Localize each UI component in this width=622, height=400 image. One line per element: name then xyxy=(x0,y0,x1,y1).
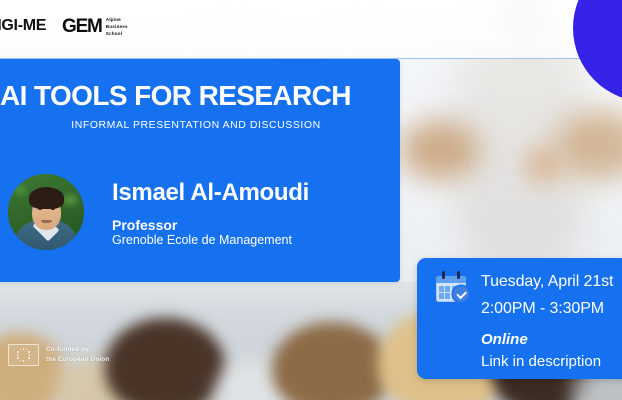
eu-star xyxy=(17,354,19,356)
eu-star xyxy=(26,349,28,351)
date-time-card: Tuesday, April 21st 2:00PM - 3:30PM Onli… xyxy=(417,258,622,379)
event-link-note: Link in description xyxy=(481,353,601,370)
eu-funding-line-2: the European Union xyxy=(46,356,109,363)
eu-star xyxy=(20,349,22,351)
speaker-organization: Grenoble Ecole de Management xyxy=(112,234,292,247)
gem-logo: GEM Alpine Business School xyxy=(62,16,128,37)
eu-star xyxy=(23,360,25,362)
eu-funding-text: Co-funded by the European Union xyxy=(46,345,109,365)
digi-me-logo: DIGI-ME xyxy=(0,17,46,35)
avatar-eye-right xyxy=(51,207,55,210)
audience-head xyxy=(105,318,225,400)
eu-star xyxy=(26,360,28,362)
eu-star xyxy=(28,357,30,359)
eu-funding-line-1: Co-funded by xyxy=(46,346,89,353)
background-arm-left xyxy=(400,120,480,180)
gem-sub-line-1: Alpine xyxy=(106,17,121,22)
calendar-ring xyxy=(442,271,445,279)
eu-star xyxy=(28,351,30,353)
eu-star xyxy=(17,351,19,353)
avatar-hair xyxy=(29,187,64,209)
event-date: Tuesday, April 21st xyxy=(481,273,613,291)
event-mode: Online xyxy=(481,331,528,348)
check-badge-icon xyxy=(453,286,469,302)
gem-sub-line-3: School xyxy=(106,31,123,36)
poster: DIGI-ME GEM Alpine Business School We AI… xyxy=(0,0,622,400)
speaker-role: Professor xyxy=(112,218,177,232)
corner-badge-label: We xyxy=(602,0,622,88)
page-title: AI TOOLS FOR RESEARCH xyxy=(0,82,392,110)
avatar-eye-left xyxy=(38,207,42,210)
background-hand xyxy=(523,145,563,185)
speaker-name: Ismael Al-Amoudi xyxy=(112,181,309,205)
gem-logo-word: GEM xyxy=(62,17,102,36)
calendar-ring xyxy=(457,271,460,279)
eu-star xyxy=(20,360,22,362)
event-time: 2:00PM - 3:30PM xyxy=(481,300,604,318)
eu-flag-icon xyxy=(8,344,39,366)
avatar xyxy=(6,172,86,252)
gem-sub-line-2: Business xyxy=(106,24,128,29)
eu-star xyxy=(23,348,25,350)
eu-star xyxy=(29,354,31,356)
avatar-mouth xyxy=(41,220,52,223)
calendar-check-icon xyxy=(435,271,469,303)
eu-star xyxy=(17,357,19,359)
eu-funding-mark: Co-funded by the European Union xyxy=(8,344,109,366)
page-subtitle: INFORMAL PRESENTATION AND DISCUSSION xyxy=(0,119,392,131)
main-blue-panel: AI TOOLS FOR RESEARCH INFORMAL PRESENTAT… xyxy=(0,59,400,282)
audience-head xyxy=(272,322,392,400)
calendar-header-strip xyxy=(436,276,466,283)
header-bar: DIGI-ME GEM Alpine Business School xyxy=(0,0,622,59)
gem-logo-subtitle: Alpine Business School xyxy=(106,16,128,37)
